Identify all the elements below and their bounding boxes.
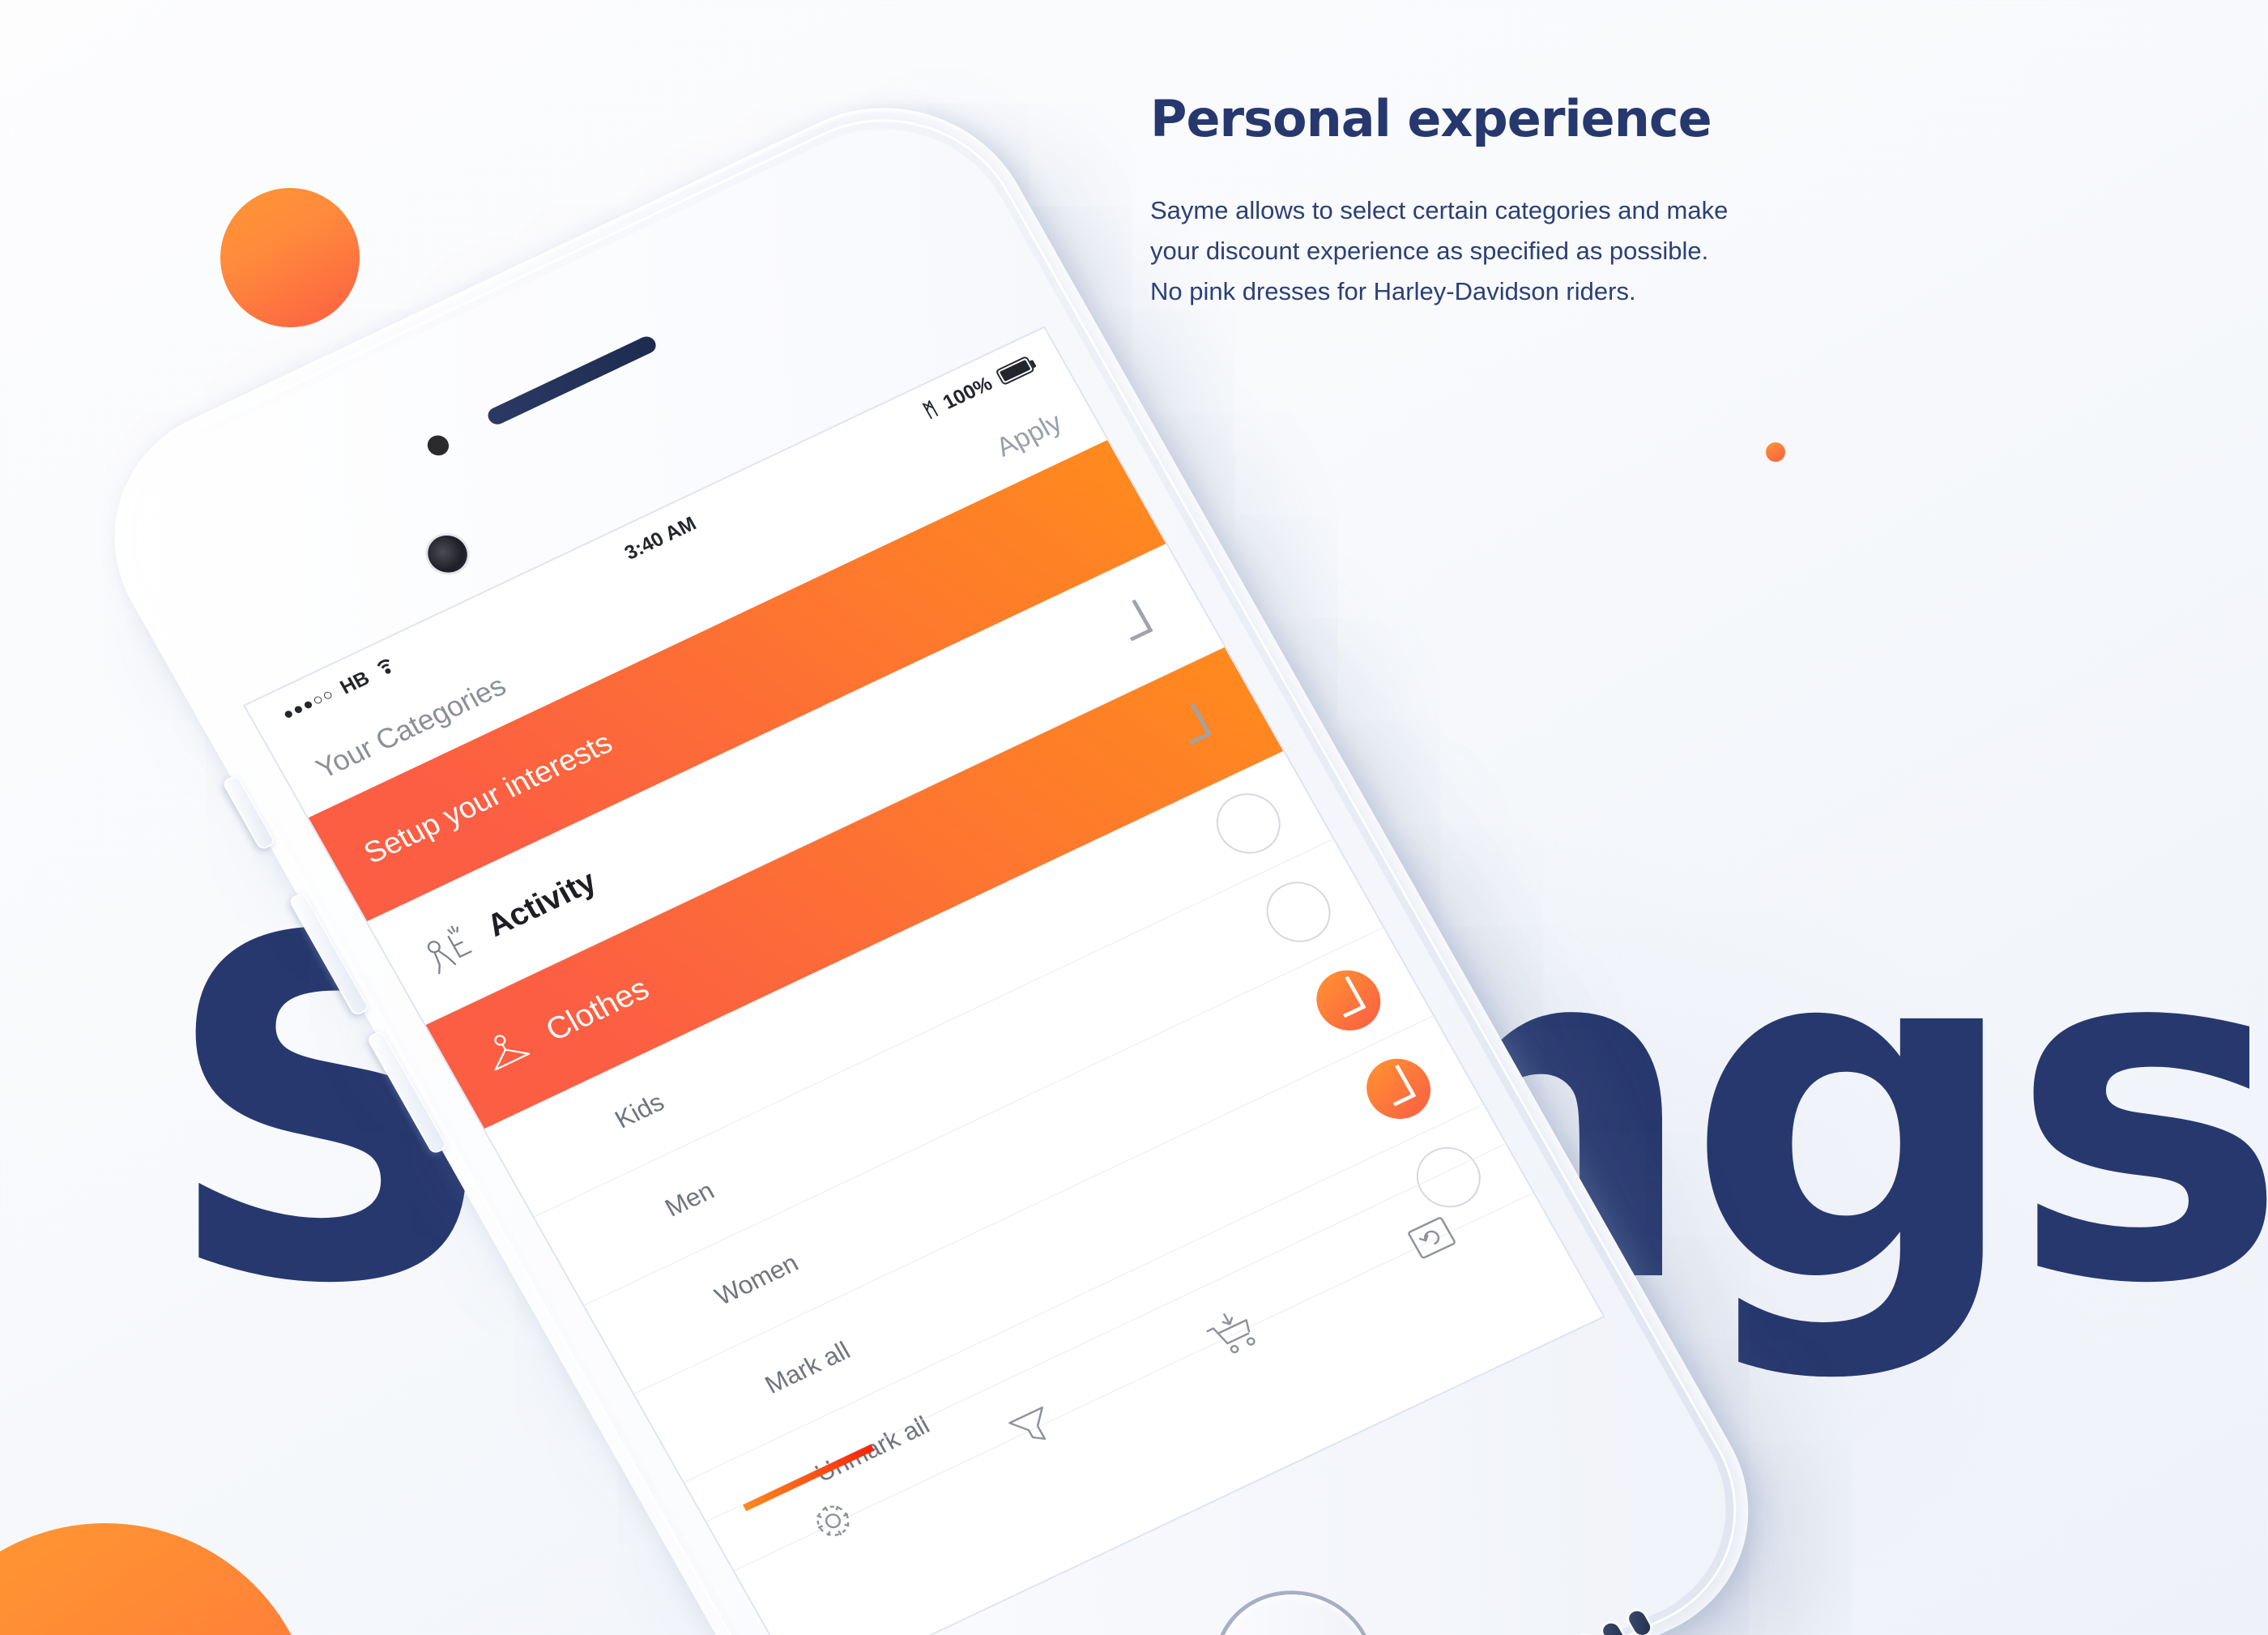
body-line-2: your discount experience as specified as… — [1150, 231, 1863, 271]
funnel-icon — [995, 1393, 1068, 1461]
activity-icon — [412, 916, 484, 981]
list-item-label: Men — [660, 1176, 719, 1223]
bluetooth-icon: ᛗ — [920, 399, 941, 423]
apply-button[interactable]: Apply — [991, 407, 1067, 463]
wifi-icon — [372, 656, 399, 681]
list-item-label: Mark all — [760, 1336, 855, 1400]
battery-icon — [995, 356, 1035, 386]
page-title: Personal experience — [1150, 89, 1863, 148]
list-item-label: Activity — [481, 864, 603, 944]
body-line-1: Sayme allows to select certain categorie… — [1150, 190, 1863, 231]
list-item-label: Kids — [610, 1087, 669, 1134]
gear-icon — [796, 1487, 869, 1555]
carrier-label: HB — [336, 667, 373, 699]
tag-icon — [1396, 1204, 1469, 1272]
checkbox-men[interactable] — [1255, 871, 1341, 951]
checkbox-mark-all[interactable] — [1355, 1048, 1442, 1129]
decorative-circle-top-left — [220, 188, 360, 327]
checkbox-clothes[interactable] — [1151, 687, 1238, 767]
list-item-label: Clothes — [539, 971, 654, 1048]
cart-icon — [1196, 1298, 1268, 1366]
checkbox-activity[interactable] — [1092, 583, 1179, 664]
signal-dots-icon: ●●●○○ — [279, 685, 338, 724]
checkbox-women[interactable] — [1305, 960, 1392, 1040]
body-line-3: No pink dresses for Harley-Davidson ride… — [1150, 271, 1863, 312]
hanger-icon — [471, 1019, 543, 1085]
decorative-circle-bottom-left — [0, 1523, 316, 1635]
copy-block: Personal experience Sayme allows to sele… — [1150, 89, 1863, 313]
checkbox-kids[interactable] — [1205, 783, 1292, 863]
list-item-label: Women — [710, 1249, 804, 1312]
decorative-dot-right — [1766, 442, 1785, 462]
body-copy: Sayme allows to select certain categorie… — [1150, 190, 1863, 313]
battery-percent-label: 100% — [939, 372, 996, 414]
